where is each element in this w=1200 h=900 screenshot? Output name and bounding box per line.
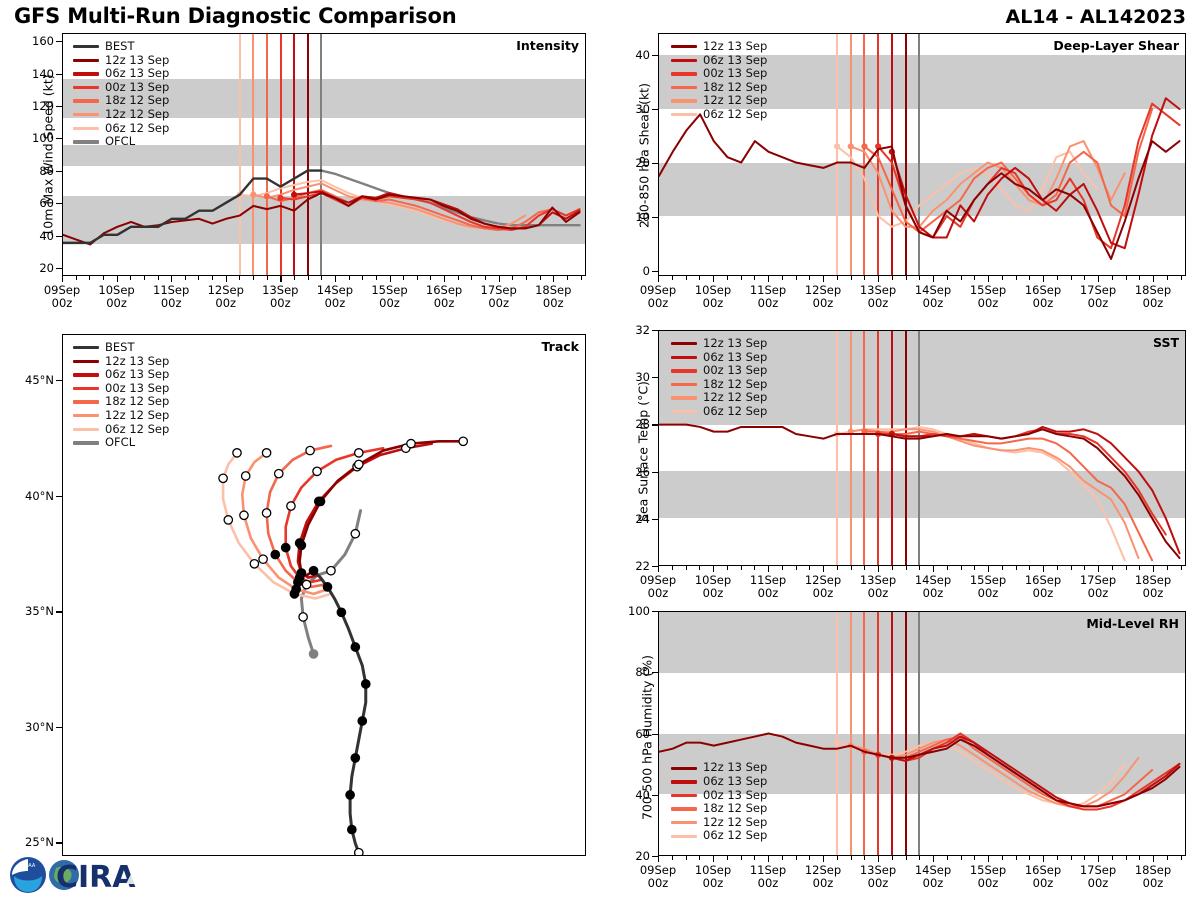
- x-axis-tick: [988, 566, 989, 572]
- x-axis-minor-tick: [672, 856, 673, 860]
- x-axis-minor-tick: [851, 566, 852, 570]
- page-title: GFS Multi-Run Diagnostic Comparison: [14, 4, 456, 28]
- x-axis-minor-tick: [239, 276, 240, 280]
- legend-label: 06z 12 Sep: [105, 423, 169, 437]
- legend-item[interactable]: 18z 12 Sep: [73, 395, 169, 409]
- legend-swatch: [73, 99, 99, 102]
- legend-item[interactable]: 12z 12 Sep: [73, 108, 169, 122]
- legend-label: BEST: [105, 40, 134, 54]
- y-axis-tick-label: 30°N: [0, 720, 54, 734]
- x-axis-tick: [933, 566, 934, 572]
- x-axis-minor-tick: [362, 276, 363, 280]
- series-line: [659, 425, 1180, 558]
- x-axis-minor-tick: [754, 276, 755, 280]
- track-point-open: [224, 516, 232, 524]
- track-point-filled: [282, 543, 290, 551]
- noaa-bird-icon: NOAA: [10, 857, 46, 893]
- legend-swatch: [73, 86, 99, 89]
- x-axis-minor-tick: [699, 566, 700, 570]
- track-point-filled: [351, 754, 359, 762]
- x-axis-minor-tick: [699, 276, 700, 280]
- track-panel: Track BEST12z 13 Sep06z 13 Sep00z 13 Sep…: [62, 334, 586, 856]
- x-axis-tick: [1098, 276, 1099, 282]
- y-axis-tick-label: 80: [0, 164, 54, 178]
- track-point-open: [355, 460, 363, 468]
- x-axis-tick: [1098, 856, 1099, 862]
- y-axis-tick-label: 100: [584, 604, 650, 618]
- legend-item[interactable]: 06z 12 Sep: [671, 405, 767, 419]
- x-axis-minor-tick: [686, 276, 687, 280]
- x-axis-minor-tick: [294, 276, 295, 280]
- y-axis-tick-label: 40: [584, 788, 650, 802]
- x-axis-minor-tick: [130, 276, 131, 280]
- y-axis-tick-label: 140: [0, 67, 54, 81]
- track-point-open: [313, 467, 321, 475]
- x-axis-minor-tick: [485, 276, 486, 280]
- y-axis-tick: [56, 380, 62, 381]
- legend-label: 06z 13 Sep: [105, 67, 169, 81]
- x-axis-tick: [768, 856, 769, 862]
- legend-label: 18z 12 Sep: [703, 802, 767, 816]
- legend-label: 06z 13 Sep: [703, 775, 767, 789]
- x-axis-minor-tick: [267, 276, 268, 280]
- y-axis-tick: [652, 566, 658, 567]
- legend-item[interactable]: 12z 13 Sep: [73, 54, 169, 68]
- x-axis-minor-tick: [961, 856, 962, 860]
- legend: 12z 13 Sep06z 13 Sep00z 13 Sep18z 12 Sep…: [671, 337, 767, 419]
- x-axis-minor-tick: [741, 276, 742, 280]
- legend-item[interactable]: 18z 12 Sep: [73, 94, 169, 108]
- legend-item[interactable]: 18z 12 Sep: [671, 378, 767, 392]
- x-axis-tick: [933, 856, 934, 862]
- legend-label: 12z 13 Sep: [105, 54, 169, 68]
- legend-item[interactable]: OFCL: [73, 135, 169, 149]
- x-axis-minor-tick: [376, 276, 377, 280]
- series-line: [892, 427, 1180, 553]
- x-axis-minor-tick: [1057, 276, 1058, 280]
- x-axis-tick: [768, 566, 769, 572]
- x-axis-tick: [1043, 856, 1044, 862]
- x-axis-tick: [933, 276, 934, 282]
- legend-item[interactable]: 12z 12 Sep: [671, 391, 767, 405]
- x-axis-minor-tick: [417, 276, 418, 280]
- legend-swatch: [671, 767, 697, 770]
- x-axis-tick: [553, 276, 554, 282]
- legend-label: 12z 13 Sep: [703, 761, 767, 775]
- x-axis-tick: [988, 276, 989, 282]
- x-axis-tick: [1153, 566, 1154, 572]
- x-axis-minor-tick: [1167, 276, 1168, 280]
- track-point-filled: [309, 650, 317, 658]
- track-point-open: [242, 472, 250, 480]
- x-axis-minor-tick: [1084, 856, 1085, 860]
- legend-swatch: [73, 59, 99, 62]
- legend-item[interactable]: 12z 13 Sep: [671, 761, 767, 775]
- track-point-open: [355, 449, 363, 457]
- x-axis-minor-tick: [1002, 276, 1003, 280]
- series-line: [851, 429, 1139, 558]
- legend-swatch: [73, 140, 99, 143]
- y-axis-tick-label: 100: [0, 131, 54, 145]
- x-axis-minor-tick: [851, 276, 852, 280]
- series-init-marker: [264, 193, 270, 199]
- x-axis-minor-tick: [1181, 566, 1182, 570]
- legend-swatch: [73, 441, 99, 444]
- x-axis-minor-tick: [103, 276, 104, 280]
- x-axis-minor-tick: [919, 276, 920, 280]
- x-axis-tick: [823, 856, 824, 862]
- x-axis-minor-tick: [458, 276, 459, 280]
- legend-label: 00z 13 Sep: [703, 67, 767, 81]
- y-axis-tick-label: 10: [584, 210, 650, 224]
- track-point-open: [302, 580, 310, 588]
- x-axis-minor-tick: [1126, 276, 1127, 280]
- x-axis-tick: [658, 856, 659, 862]
- series-line: [878, 104, 1179, 249]
- y-axis-tick: [652, 856, 658, 857]
- x-axis-minor-tick: [1071, 276, 1072, 280]
- legend-label: 12z 13 Sep: [105, 355, 169, 369]
- legend-item[interactable]: 12z 13 Sep: [671, 337, 767, 351]
- x-axis-minor-tick: [947, 566, 948, 570]
- legend-swatch: [671, 356, 697, 359]
- legend-swatch: [73, 387, 99, 390]
- legend-swatch: [73, 127, 99, 130]
- x-axis-minor-tick: [686, 856, 687, 860]
- legend-label: 00z 13 Sep: [703, 789, 767, 803]
- y-axis-tick: [56, 842, 62, 843]
- y-axis-tick-label: 45°N: [0, 373, 54, 387]
- legend-label: 00z 13 Sep: [105, 81, 169, 95]
- x-axis-minor-tick: [1181, 276, 1182, 280]
- y-axis-tick: [652, 611, 658, 612]
- x-axis-minor-tick: [185, 276, 186, 280]
- legend-label: 12z 12 Sep: [105, 108, 169, 122]
- x-axis-minor-tick: [974, 566, 975, 570]
- legend-swatch: [671, 821, 697, 824]
- y-axis-tick-label: 60: [0, 196, 54, 210]
- x-axis-minor-tick: [782, 566, 783, 570]
- x-axis-minor-tick: [974, 856, 975, 860]
- track-point-open: [459, 437, 467, 445]
- legend-item[interactable]: 12z 12 Sep: [671, 94, 767, 108]
- legend-label: 06z 13 Sep: [703, 351, 767, 365]
- series-line: [63, 193, 580, 244]
- x-axis-minor-tick: [782, 856, 783, 860]
- x-axis-tick: [713, 856, 714, 862]
- y-axis-tick: [56, 74, 62, 75]
- x-axis-minor-tick: [919, 566, 920, 570]
- track-point-filled: [309, 567, 317, 575]
- legend-item[interactable]: OFCL: [73, 436, 169, 450]
- legend-label: 18z 12 Sep: [105, 94, 169, 108]
- x-axis-minor-tick: [540, 276, 541, 280]
- legend-item[interactable]: 18z 12 Sep: [671, 802, 767, 816]
- legend-swatch: [73, 113, 99, 116]
- x-axis-minor-tick: [686, 566, 687, 570]
- series-init-marker: [834, 740, 840, 746]
- y-axis-tick-label: 26: [584, 465, 650, 479]
- x-axis-minor-tick: [198, 276, 199, 280]
- y-axis-tick: [652, 672, 658, 673]
- x-axis-minor-tick: [906, 276, 907, 280]
- legend-swatch: [671, 72, 697, 75]
- legend-swatch: [671, 369, 697, 372]
- legend-swatch: [671, 794, 697, 797]
- y-axis-tick: [56, 611, 62, 612]
- x-axis-minor-tick: [1112, 276, 1113, 280]
- legend-label: 00z 13 Sep: [703, 364, 767, 378]
- legend-swatch: [73, 45, 99, 48]
- x-axis-tick: [444, 276, 445, 282]
- series-init-marker: [250, 192, 256, 198]
- track-point-open: [275, 469, 283, 477]
- legend-item[interactable]: 06z 13 Sep: [671, 351, 767, 365]
- legend-label: 12z 12 Sep: [703, 816, 767, 830]
- track-point-open: [287, 502, 295, 510]
- legend-item[interactable]: 06z 13 Sep: [671, 54, 767, 68]
- x-axis-minor-tick: [1002, 566, 1003, 570]
- x-axis-minor-tick: [837, 566, 838, 570]
- x-axis-minor-tick: [961, 276, 962, 280]
- legend-item[interactable]: 12z 12 Sep: [671, 816, 767, 830]
- legend-item[interactable]: 00z 13 Sep: [671, 364, 767, 378]
- x-axis-minor-tick: [321, 276, 322, 280]
- track-point-filled: [348, 825, 356, 833]
- y-axis-tick: [56, 268, 62, 269]
- legend-item[interactable]: 06z 12 Sep: [73, 423, 169, 437]
- legend-swatch: [671, 45, 697, 48]
- legend-item[interactable]: 18z 12 Sep: [671, 81, 767, 95]
- legend-label: 18z 12 Sep: [703, 81, 767, 95]
- x-axis-tick-label: 18Sep 00z: [1119, 864, 1187, 890]
- x-axis-minor-tick: [1071, 566, 1072, 570]
- track-point-filled: [316, 497, 324, 505]
- x-axis-minor-tick: [796, 276, 797, 280]
- y-axis-tick-label: 24: [584, 512, 650, 526]
- x-axis-minor-tick: [1016, 856, 1017, 860]
- x-axis-minor-tick: [754, 856, 755, 860]
- x-axis-tick-label: 18Sep 00z: [1119, 284, 1187, 310]
- legend-item[interactable]: 00z 13 Sep: [671, 789, 767, 803]
- x-axis-minor-tick: [526, 276, 527, 280]
- x-axis-tick: [658, 566, 659, 572]
- legend-swatch: [73, 360, 99, 363]
- svg-text:NOAA: NOAA: [21, 863, 36, 869]
- y-axis-tick: [652, 55, 658, 56]
- y-axis-tick-label: 20: [584, 849, 650, 863]
- y-axis-tick-label: 40: [0, 229, 54, 243]
- y-axis-tick: [56, 106, 62, 107]
- track-point-open: [259, 555, 267, 563]
- series-init-marker: [291, 192, 297, 198]
- x-axis-minor-tick: [1084, 566, 1085, 570]
- legend-label: 06z 12 Sep: [105, 122, 169, 136]
- legend-item[interactable]: 12z 12 Sep: [73, 409, 169, 423]
- x-axis-tick: [713, 566, 714, 572]
- x-axis-minor-tick: [1112, 566, 1113, 570]
- legend-item[interactable]: 06z 12 Sep: [671, 829, 767, 843]
- shear-panel-title: Deep-Layer Shear: [1053, 38, 1179, 53]
- rh-panel-title: Mid-Level RH: [1086, 616, 1179, 631]
- legend-item[interactable]: 12z 13 Sep: [671, 40, 767, 54]
- legend-label: 06z 13 Sep: [105, 368, 169, 382]
- y-axis-tick: [652, 330, 658, 331]
- y-axis-tick: [652, 377, 658, 378]
- legend-label: 06z 13 Sep: [703, 54, 767, 68]
- series-init-marker: [834, 143, 840, 149]
- svg-text:CIRA: CIRA: [56, 860, 136, 895]
- track-point-filled: [362, 680, 370, 688]
- x-axis-minor-tick: [974, 276, 975, 280]
- track-point-filled: [346, 791, 354, 799]
- legend-label: 12z 13 Sep: [703, 337, 767, 351]
- intensity-panel-title: Intensity: [516, 38, 579, 53]
- track-point-open: [327, 567, 335, 575]
- series-init-marker: [277, 195, 283, 201]
- y-axis-tick-label: 160: [0, 34, 54, 48]
- legend: BEST12z 13 Sep06z 13 Sep00z 13 Sep18z 12…: [73, 40, 169, 149]
- x-axis-tick-label: 18Sep 00z: [1119, 574, 1187, 600]
- x-axis-minor-tick: [796, 566, 797, 570]
- x-axis-minor-tick: [892, 566, 893, 570]
- y-axis-tick-label: 25°N: [0, 835, 54, 849]
- legend-item[interactable]: 00z 13 Sep: [73, 382, 169, 396]
- x-axis-tick: [499, 276, 500, 282]
- legend-swatch: [73, 400, 99, 403]
- x-axis-minor-tick: [961, 566, 962, 570]
- x-axis-minor-tick: [1029, 856, 1030, 860]
- legend-swatch: [671, 410, 697, 413]
- track-point-open: [233, 449, 241, 457]
- track-point-filled: [337, 608, 345, 616]
- legend-swatch: [671, 59, 697, 62]
- x-axis-minor-tick: [1139, 566, 1140, 570]
- x-axis-minor-tick: [1029, 566, 1030, 570]
- legend-swatch: [73, 373, 99, 376]
- legend-swatch: [671, 99, 697, 102]
- x-axis-tick: [280, 276, 281, 282]
- x-axis-minor-tick: [1057, 566, 1058, 570]
- x-axis-minor-tick: [699, 856, 700, 860]
- x-axis-minor-tick: [567, 276, 568, 280]
- x-axis-minor-tick: [947, 276, 948, 280]
- x-axis-minor-tick: [1167, 566, 1168, 570]
- x-axis-minor-tick: [809, 276, 810, 280]
- x-axis-minor-tick: [796, 856, 797, 860]
- track-line: [300, 441, 464, 575]
- sst-panel: SST 12z 13 Sep06z 13 Sep00z 13 Sep18z 12…: [658, 330, 1186, 566]
- legend-swatch: [671, 383, 697, 386]
- x-axis-minor-tick: [892, 856, 893, 860]
- x-axis-minor-tick: [672, 566, 673, 570]
- x-axis-tick: [390, 276, 391, 282]
- x-axis-minor-tick: [430, 276, 431, 280]
- y-axis-tick: [652, 271, 658, 272]
- y-axis-tick-label: 120: [0, 99, 54, 113]
- track-point-open: [250, 560, 258, 568]
- track-point-filled: [297, 569, 305, 577]
- y-axis-tick: [652, 472, 658, 473]
- shear-panel: Deep-Layer Shear 12z 13 Sep06z 13 Sep00z…: [658, 33, 1186, 276]
- legend-item[interactable]: 06z 13 Sep: [73, 368, 169, 382]
- x-axis-minor-tick: [864, 566, 865, 570]
- y-axis-tick: [56, 496, 62, 497]
- x-axis-minor-tick: [837, 856, 838, 860]
- x-axis-minor-tick: [512, 276, 513, 280]
- series-line: [892, 98, 1180, 248]
- legend-item[interactable]: 06z 13 Sep: [671, 775, 767, 789]
- legend-item[interactable]: 00z 13 Sep: [671, 67, 767, 81]
- legend-item[interactable]: 12z 13 Sep: [73, 355, 169, 369]
- legend-swatch: [73, 346, 99, 349]
- legend-label: 06z 12 Sep: [703, 108, 767, 122]
- x-axis-minor-tick: [672, 276, 673, 280]
- x-axis-tick: [823, 566, 824, 572]
- legend-swatch: [671, 780, 697, 783]
- track-point-open: [240, 511, 248, 519]
- legend-item[interactable]: BEST: [73, 40, 169, 54]
- legend-item[interactable]: 06z 12 Sep: [671, 108, 767, 122]
- x-axis-minor-tick: [864, 856, 865, 860]
- x-axis-tick: [1153, 856, 1154, 862]
- x-axis-tick: [62, 276, 63, 282]
- x-axis-tick: [1153, 276, 1154, 282]
- x-axis-minor-tick: [1181, 856, 1182, 860]
- legend-item[interactable]: 06z 12 Sep: [73, 122, 169, 136]
- legend-item[interactable]: BEST: [73, 341, 169, 355]
- x-axis-tick: [713, 276, 714, 282]
- y-axis-tick: [56, 171, 62, 172]
- x-axis-minor-tick: [741, 566, 742, 570]
- legend-item[interactable]: 06z 13 Sep: [73, 67, 169, 81]
- x-axis-minor-tick: [906, 856, 907, 860]
- y-axis-tick-label: 20: [0, 261, 54, 275]
- y-axis-tick-label: 22: [584, 559, 650, 573]
- x-axis-minor-tick: [1139, 856, 1140, 860]
- track-point-open: [306, 446, 314, 454]
- legend-label: 06z 12 Sep: [703, 829, 767, 843]
- series-line: [864, 737, 1152, 807]
- y-axis-tick-label: 32: [584, 323, 650, 337]
- y-axis-tick-label: 0: [584, 264, 650, 278]
- track-line: [298, 444, 432, 578]
- x-axis-minor-tick: [1029, 276, 1030, 280]
- x-axis-minor-tick: [727, 856, 728, 860]
- track-point-filled: [323, 583, 331, 591]
- y-axis-tick-label: 80: [584, 665, 650, 679]
- legend-swatch: [671, 807, 697, 810]
- x-axis-minor-tick: [919, 856, 920, 860]
- x-axis-minor-tick: [1139, 276, 1140, 280]
- x-axis-minor-tick: [864, 276, 865, 280]
- legend-swatch: [671, 113, 697, 116]
- x-axis-tick: [768, 276, 769, 282]
- y-axis-tick: [56, 727, 62, 728]
- legend-item[interactable]: 00z 13 Sep: [73, 81, 169, 95]
- x-axis-minor-tick: [89, 276, 90, 280]
- x-axis-minor-tick: [1126, 856, 1127, 860]
- legend-label: BEST: [105, 341, 134, 355]
- y-axis-tick: [652, 734, 658, 735]
- x-axis-minor-tick: [1057, 856, 1058, 860]
- track-panel-title: Track: [542, 339, 579, 354]
- legend-swatch: [73, 428, 99, 431]
- x-axis-tick: [988, 856, 989, 862]
- y-axis-tick-label: 35°N: [0, 604, 54, 618]
- x-axis-minor-tick: [782, 276, 783, 280]
- x-axis-tick: [878, 276, 879, 282]
